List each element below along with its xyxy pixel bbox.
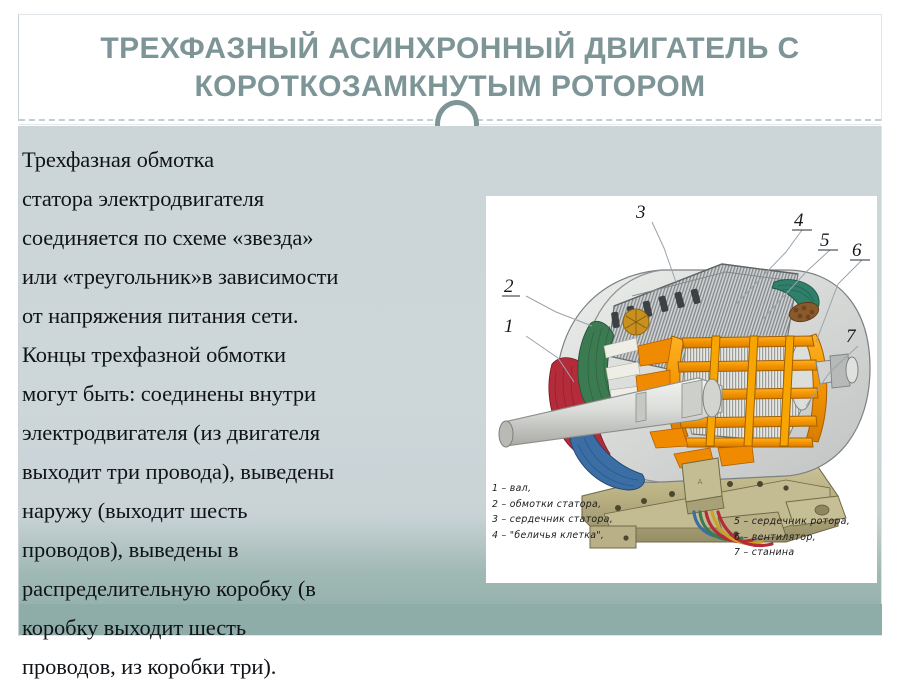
figure-legend-right: 5 – сердечник ротора, 6 – вентилятор, 7 … [734,514,850,561]
figure-legend-left: 1 – вал, 2 – обмотки статора, 3 – сердеч… [492,481,613,543]
callout-7: 7 [846,326,857,347]
callout-4: 4 [794,210,804,231]
body-paragraph: Трехфазная обмотка статора электродвигат… [22,140,472,686]
svg-text:A: A [698,478,703,486]
callout-3: 3 [635,202,646,223]
callout-1: 1 [504,316,514,337]
callout-2: 2 [504,276,514,297]
callout-6: 6 [852,240,862,261]
callout-5: 5 [820,230,830,251]
slide: ТРЕХФАЗНЫЙ АСИНХРОННЫЙ ДВИГАТЕЛЬ С КОРОТ… [0,0,900,675]
terminal-box-part: A [682,458,724,514]
page-title: ТРЕХФАЗНЫЙ АСИНХРОННЫЙ ДВИГАТЕЛЬ С КОРОТ… [76,30,823,107]
figure-panel: A 1 2 3 [486,196,877,583]
